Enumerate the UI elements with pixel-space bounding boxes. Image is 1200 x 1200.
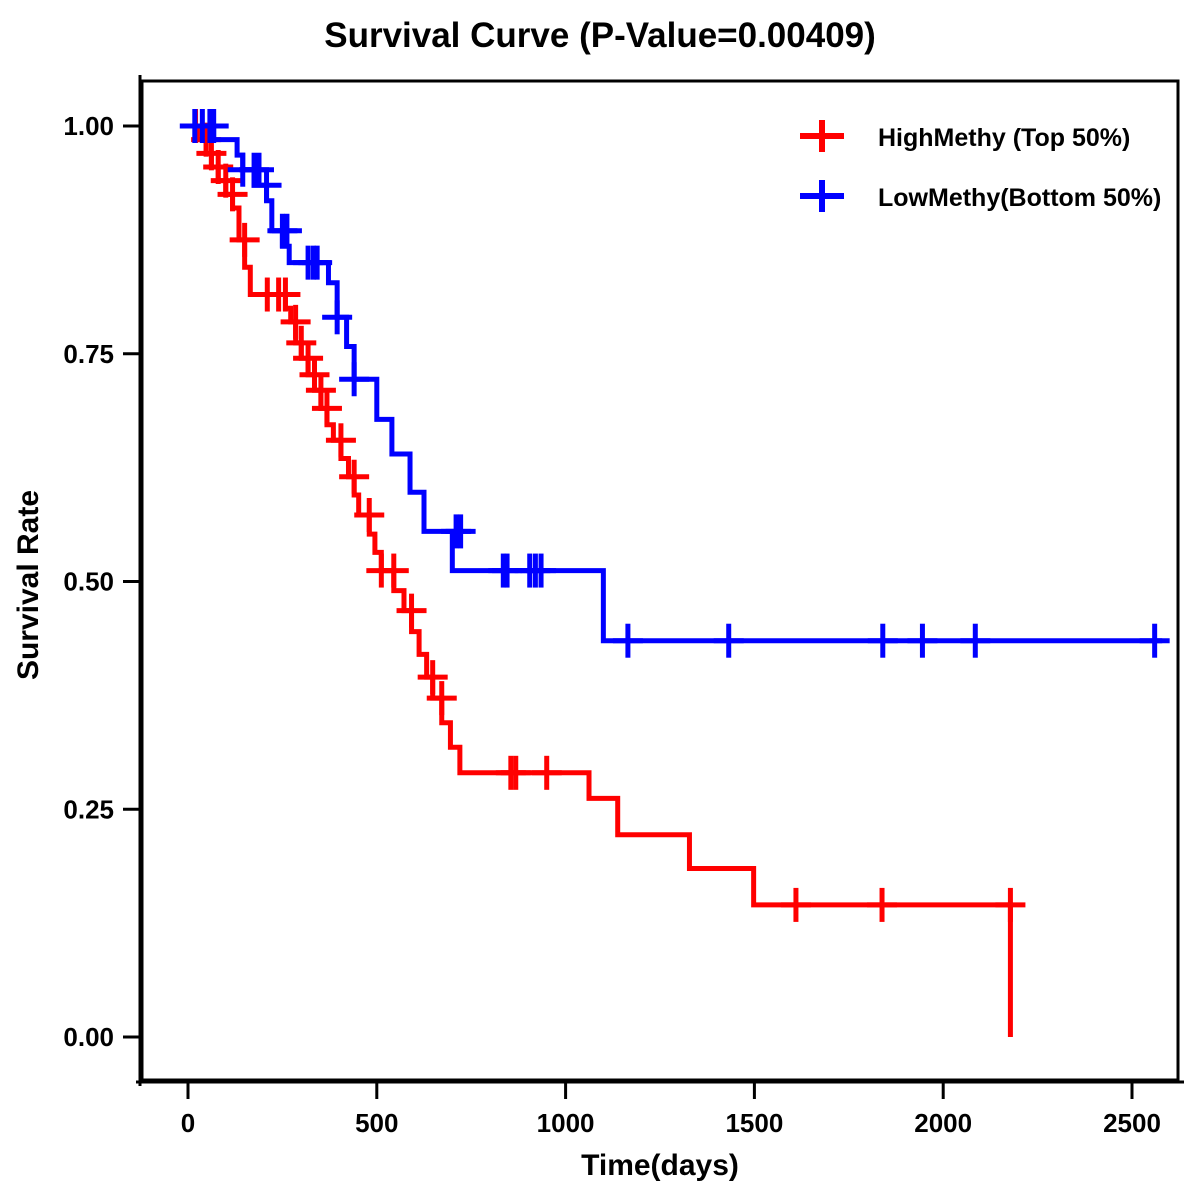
survival-chart-figure: Survival Curve (P-Value=0.00409) 0500100… (0, 0, 1200, 1200)
y-tick-label: 0.25 (63, 794, 114, 824)
y-tick-label: 0.50 (63, 567, 114, 597)
y-tick-label: 1.00 (63, 111, 114, 141)
y-axis-title: Survival Rate (12, 490, 45, 680)
legend-item-label: HighMethy (Top 50%) (878, 124, 1130, 152)
x-tick-label: 2500 (1103, 1108, 1161, 1138)
x-tick-label: 500 (355, 1108, 398, 1138)
y-tick-label: 0.75 (63, 339, 114, 369)
x-tick-label: 2000 (914, 1108, 972, 1138)
x-axis-title: Time(days) (581, 1149, 739, 1182)
legend-item-label: LowMethy(Bottom 50%) (878, 184, 1161, 212)
plot-area: 050010001500200025000.000.250.500.751.00… (0, 0, 1200, 1200)
x-tick-label: 1000 (537, 1108, 595, 1138)
y-tick-label: 0.00 (63, 1022, 114, 1052)
x-tick-label: 0 (181, 1108, 195, 1138)
x-tick-label: 1500 (725, 1108, 783, 1138)
